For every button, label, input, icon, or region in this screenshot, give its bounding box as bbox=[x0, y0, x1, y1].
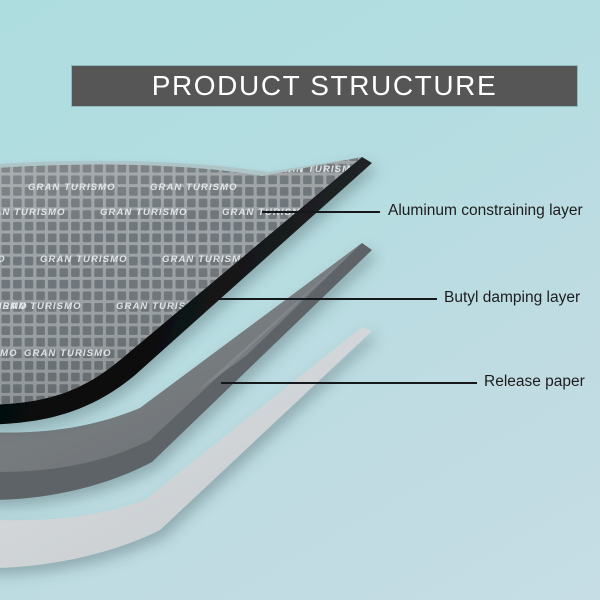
watermark-text: GRAN TURISMO bbox=[0, 254, 6, 265]
watermark-text: GRAN TURISMO bbox=[0, 207, 66, 218]
product-structure-diagram: GRAN TURISMO GRAN TURISMO GRAN TURISMO G… bbox=[0, 0, 600, 600]
watermark-text: GRAN TURISMO bbox=[150, 182, 238, 193]
page-title: PRODUCT STRUCTURE bbox=[152, 72, 498, 100]
callout-label-release: Release paper bbox=[484, 374, 585, 390]
watermark-text: GRAN TURISMO bbox=[0, 301, 82, 312]
watermark-text: GRAN TURISMO bbox=[28, 182, 116, 193]
watermark-text: GRAN TURISMO bbox=[100, 207, 188, 218]
title-banner: PRODUCT STRUCTURE bbox=[71, 65, 578, 107]
watermark-text: GRAN TURISMO bbox=[0, 348, 18, 359]
callout-label-aluminum: Aluminum constraining layer bbox=[388, 203, 583, 219]
watermark-text: GRAN TURISMO bbox=[24, 348, 112, 359]
callout-label-butyl: Butyl damping layer bbox=[444, 290, 580, 306]
watermark-text: GRAN TURISMO bbox=[40, 254, 128, 265]
